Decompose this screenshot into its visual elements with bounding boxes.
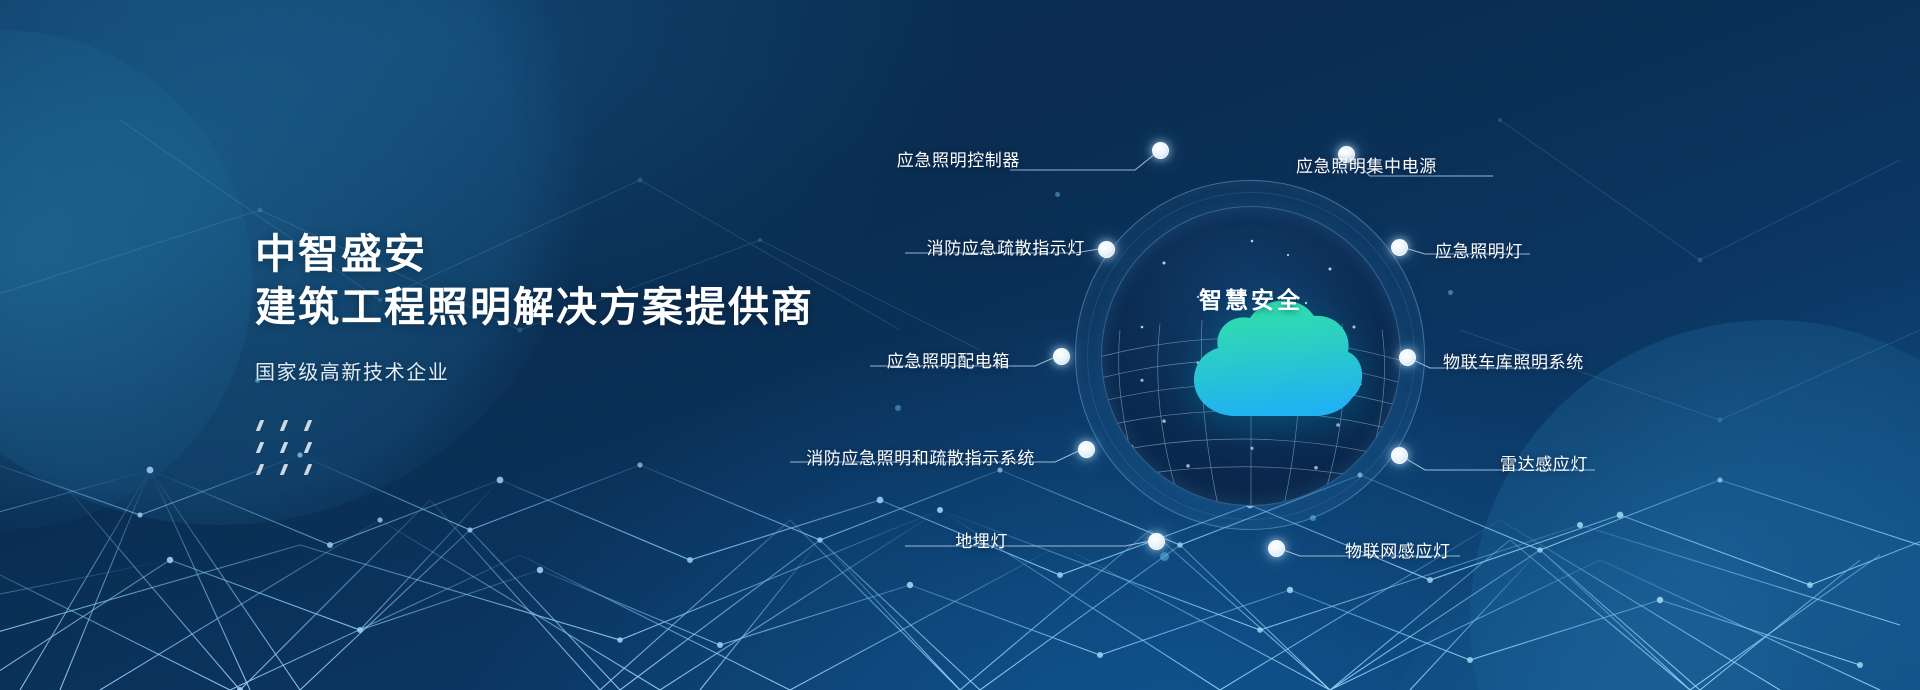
- node-dot-garage-system[interactable]: [1399, 349, 1416, 366]
- hub-center-label: 智慧安全: [1102, 281, 1400, 315]
- page-title-line-1: 中智盛安: [255, 228, 814, 281]
- decorative-circle-bottom-right-small: [1380, 540, 1860, 690]
- page-title-line-2: 建筑工程照明解决方案提供商: [255, 281, 814, 334]
- node-dot-evac-sign[interactable]: [1098, 241, 1115, 258]
- accent-dot-2: [1055, 192, 1060, 197]
- accent-dot-6: [1160, 552, 1169, 561]
- hub-inner-disc: 智慧安全: [1101, 206, 1401, 506]
- label-controller[interactable]: 应急照明控制器: [897, 146, 1020, 171]
- node-dot-controller[interactable]: [1152, 142, 1169, 159]
- central-hub-graphic: 智慧安全: [1075, 180, 1425, 530]
- hero-banner: 中智盛安 建筑工程照明解决方案提供商 国家级高新技术企业: [0, 0, 1920, 690]
- accent-dot-3: [1448, 290, 1453, 295]
- decorative-circle-bottom-right-large: [1470, 320, 1920, 690]
- page-subtitle: 国家级高新技术企业: [255, 356, 814, 385]
- node-dot-iot-sensor-lamp[interactable]: [1268, 540, 1285, 557]
- label-evac-sign[interactable]: 消防应急疏散指示灯: [927, 234, 1085, 259]
- node-dot-emergency-lamp[interactable]: [1391, 239, 1408, 256]
- node-dot-radar-lamp[interactable]: [1391, 447, 1408, 464]
- label-emergency-lamp[interactable]: 应急照明灯: [1435, 237, 1523, 262]
- label-buried-lamp[interactable]: 地埋灯: [955, 527, 1008, 552]
- node-dot-evac-system[interactable]: [1078, 441, 1095, 458]
- accent-dot-5: [895, 405, 901, 411]
- headline-block: 中智盛安 建筑工程照明解决方案提供商 国家级高新技术企业: [255, 228, 814, 385]
- node-dot-buried-lamp[interactable]: [1148, 533, 1165, 550]
- label-evac-system[interactable]: 消防应急照明和疏散指示系统: [806, 444, 1035, 469]
- label-garage-system[interactable]: 物联车库照明系统: [1443, 348, 1584, 373]
- node-dot-distribution-box[interactable]: [1053, 348, 1070, 365]
- decorative-dot-grid: [258, 420, 330, 486]
- label-iot-sensor-lamp[interactable]: 物联网感应灯: [1345, 537, 1451, 562]
- label-distribution-box[interactable]: 应急照明配电箱: [887, 347, 1010, 372]
- label-central-power[interactable]: 应急照明集中电源: [1296, 152, 1437, 177]
- decorative-circle-top-left-small: [0, 30, 252, 530]
- label-radar-lamp[interactable]: 雷达感应灯: [1500, 450, 1588, 475]
